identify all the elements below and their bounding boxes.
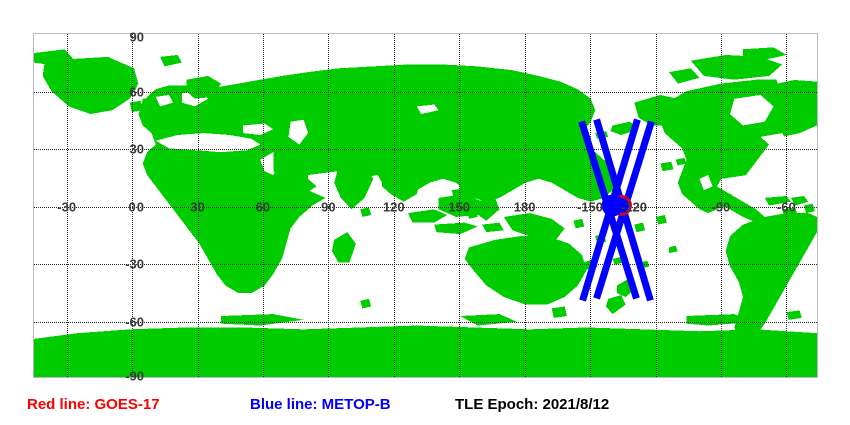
lon-tick-label: -30 [57,200,76,213]
satellite-track-map-figure: -30 0 30 60 90 120 150 180 -150 -120 -90… [0,0,850,425]
satellite-ground-tracks [34,34,817,377]
lon-tick-label: 120 [383,200,405,213]
lon-tick-label: -120 [621,200,647,213]
lon-tick-label: 180 [514,200,536,213]
lat-tick-label: 60 [130,85,144,98]
lat-tick-label: 90 [130,31,144,44]
lon-tick-label: -150 [577,200,603,213]
legend-bar: Red line: GOES-17 Blue line: METOP-B TLE… [0,392,850,418]
legend-tle-epoch: TLE Epoch: 2021/8/12 [455,392,609,418]
lon-tick-label: -90 [711,200,730,213]
lon-tick-label: 90 [321,200,335,213]
lon-tick-label: 30 [190,200,204,213]
legend-red-line-goes17: Red line: GOES-17 [27,392,160,418]
legend-blue-line-metopb: Blue line: METOP-B [250,392,391,418]
lon-tick-label: 150 [448,200,470,213]
map-plot-area: -30 0 30 60 90 120 150 180 -150 -120 -90… [33,33,818,378]
lat-tick-label: 30 [130,143,144,156]
lat-tick-label: 0 [137,200,144,213]
lon-tick-label: -60 [777,200,796,213]
lat-tick-label: -60 [125,315,144,328]
lon-tick-label: 60 [256,200,270,213]
lat-tick-label: -30 [125,258,144,271]
lat-tick-label: -90 [125,370,144,383]
lon-tick-label: 0 [128,200,135,213]
